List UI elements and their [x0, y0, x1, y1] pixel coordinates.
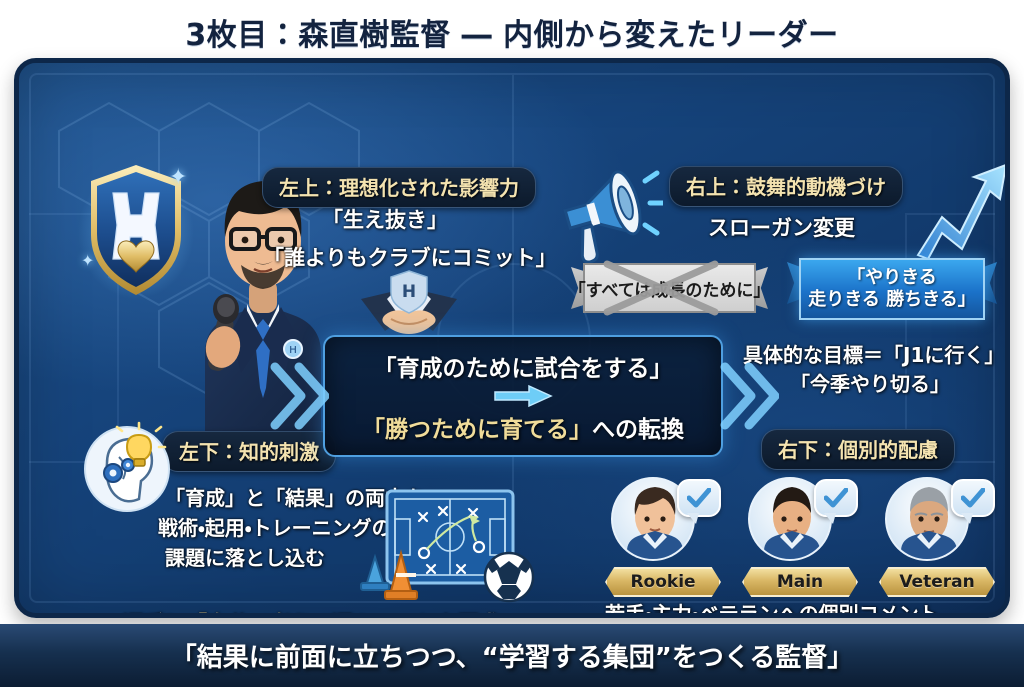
slogan-change-label: スローガン変更 — [708, 215, 855, 242]
heading-bottom-right: 右下：個別的配慮 — [761, 429, 955, 470]
heading-top-left-text: 左上：理想化された影響力 — [279, 172, 519, 201]
rookie-badge: Rookie — [605, 567, 721, 597]
growth-arrow-icon — [914, 159, 1009, 264]
tactics-board-icon — [357, 487, 537, 607]
veteran-label: Veteran — [899, 572, 974, 592]
player-avatar-group: Rookie Main — [605, 477, 995, 597]
soccer-ball-icon — [485, 553, 533, 601]
svg-text:H: H — [289, 345, 297, 356]
old-slogan-body: 「すべては成長のために」 — [583, 263, 756, 313]
player-card-main[interactable]: Main — [742, 477, 858, 597]
center-line1: 「育成のために試合をする」 — [374, 349, 673, 383]
player-card-rookie[interactable]: Rookie — [605, 477, 721, 597]
bottom-left-footer-gold: 「自分で考えて選ぶ」 — [186, 612, 395, 618]
main-label: Main — [777, 572, 823, 592]
old-slogan-text: 「すべては成長のために」 — [569, 276, 771, 301]
bottom-left-footer-prefix: 選手に — [123, 612, 186, 618]
goal-line1: 具体的な目標＝「J1に行く」 — [743, 342, 1004, 368]
page-title: 3枚目：森直樹監督 ― 内側から変えたリーダー — [0, 8, 1024, 56]
center-line2-rest: への転換 — [592, 417, 684, 443]
veteran-badge: Veteran — [879, 567, 995, 597]
heading-bottom-left: 左下：知的刺激 — [162, 431, 336, 472]
check-icon — [961, 488, 985, 508]
new-slogan-body: 「やりきる 走りきる 勝ちきる」 — [799, 258, 985, 320]
heading-top-left: 左上：理想化された影響力 — [262, 167, 536, 208]
center-transition-box: 「育成のために試合をする」 「勝つために育てる」への転換 — [323, 335, 723, 457]
veteran-check-bubble — [951, 479, 995, 517]
check-icon — [824, 488, 848, 508]
rookie-check-bubble — [677, 479, 721, 517]
top-left-line2: 「誰よりもクラブにコミット」 — [263, 245, 557, 272]
goal-line2: 「今季やり切る」 — [790, 371, 950, 397]
new-slogan-line1: 「やりきる — [847, 267, 937, 290]
center-line2: 「勝つために育てる」への転換 — [362, 410, 684, 444]
megaphone-icon — [553, 159, 663, 264]
main-check-bubble — [814, 479, 858, 517]
new-slogan-ribbon: 「やりきる 走りきる 勝ちきる」 — [787, 258, 997, 320]
heading-bottom-right-text: 右下：個別的配慮 — [778, 434, 938, 463]
new-slogan-line2: 走りきる 勝ちきる」 — [808, 289, 976, 312]
player-card-veteran[interactable]: Veteran — [879, 477, 995, 597]
svg-text:H: H — [402, 282, 416, 302]
center-line2-gold: 「勝つために育てる」 — [362, 417, 592, 443]
heading-bottom-left-text: 左下：知的刺激 — [179, 436, 319, 465]
footer-text: 「結果に前面に立ちつつ、“学習する集団”をつくる監督」 — [171, 637, 854, 674]
brain-lightbulb-gears-icon — [83, 421, 171, 513]
main-badge: Main — [742, 567, 858, 597]
main-panel: ✦ ✦ — [14, 58, 1010, 618]
heading-top-right: 右上：鼓舞的動機づけ — [669, 166, 903, 207]
heading-top-right-text: 右上：鼓舞的動機づけ — [686, 171, 886, 200]
bottom-right-line1: 若手・主力・ベテランへの個別コメント — [605, 601, 939, 618]
bottom-left-line3: 課題に落とし込む — [165, 545, 325, 571]
footer-banner: 「結果に前面に立ちつつ、“学習する集団”をつくる監督」 — [0, 624, 1024, 687]
page-title-text: 3枚目：森直樹監督 ― 内側から変えたリーダー — [185, 10, 838, 54]
rookie-label: Rookie — [630, 572, 695, 592]
old-slogan-ribbon: 「すべては成長のために」 — [571, 263, 768, 313]
bottom-left-footer-suffix: ことを要求 — [395, 612, 500, 618]
right-arrow-icon — [493, 384, 553, 408]
top-left-line1: 「生え抜き」 — [322, 207, 448, 234]
bottom-left-footer: 選手に「自分で考えて選ぶ」ことを要求 — [123, 611, 500, 618]
check-icon — [687, 488, 711, 508]
